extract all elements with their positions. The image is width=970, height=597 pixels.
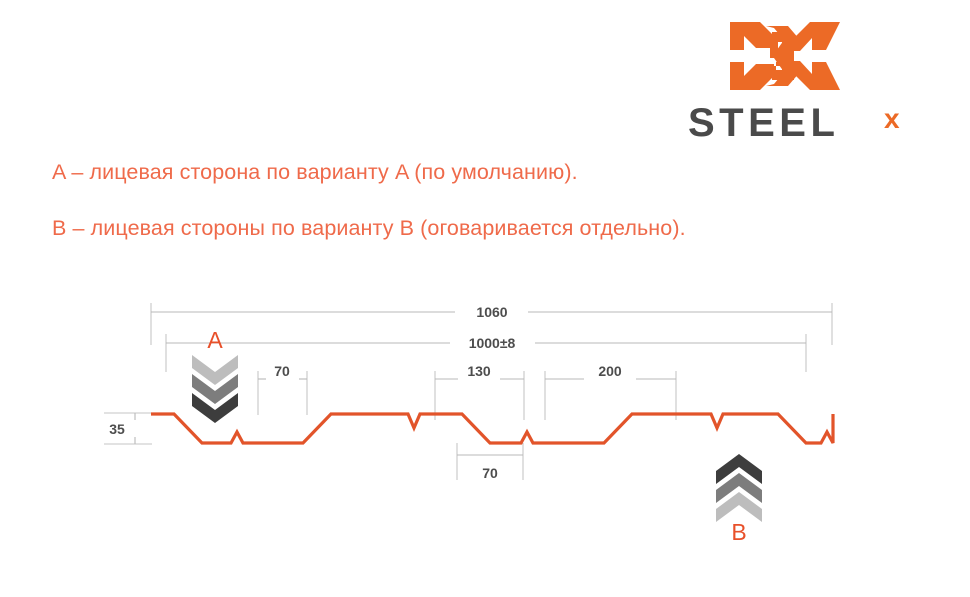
sheet-profile-line — [151, 414, 833, 443]
dimension-crest-top-label: 70 — [274, 363, 290, 379]
dimension-pitch-130-label: 130 — [467, 363, 491, 379]
dimension-valley-bottom-label: 70 — [482, 465, 498, 481]
dimension-cover-width-label: 1000±8 — [469, 335, 516, 351]
marker-a: A — [192, 327, 238, 423]
dimension-profile-height-label: 35 — [109, 421, 125, 437]
marker-b-label: B — [731, 519, 746, 545]
dimension-pitch-200-label: 200 — [598, 363, 622, 379]
dimension-profile-height: 35 — [104, 413, 152, 444]
dimension-overall-width-label: 1060 — [476, 304, 507, 320]
marker-b: B — [716, 454, 762, 545]
marker-a-label: A — [207, 327, 223, 353]
profile-cross-section-drawing: 1060 1000±8 70 130 200 70 — [0, 0, 970, 597]
dimension-valley-bottom: 70 — [457, 443, 523, 481]
dimension-pitch-200: 200 — [545, 363, 676, 420]
dimension-crest-top: 70 — [258, 363, 307, 415]
dimension-pitch-130: 130 — [435, 363, 524, 420]
